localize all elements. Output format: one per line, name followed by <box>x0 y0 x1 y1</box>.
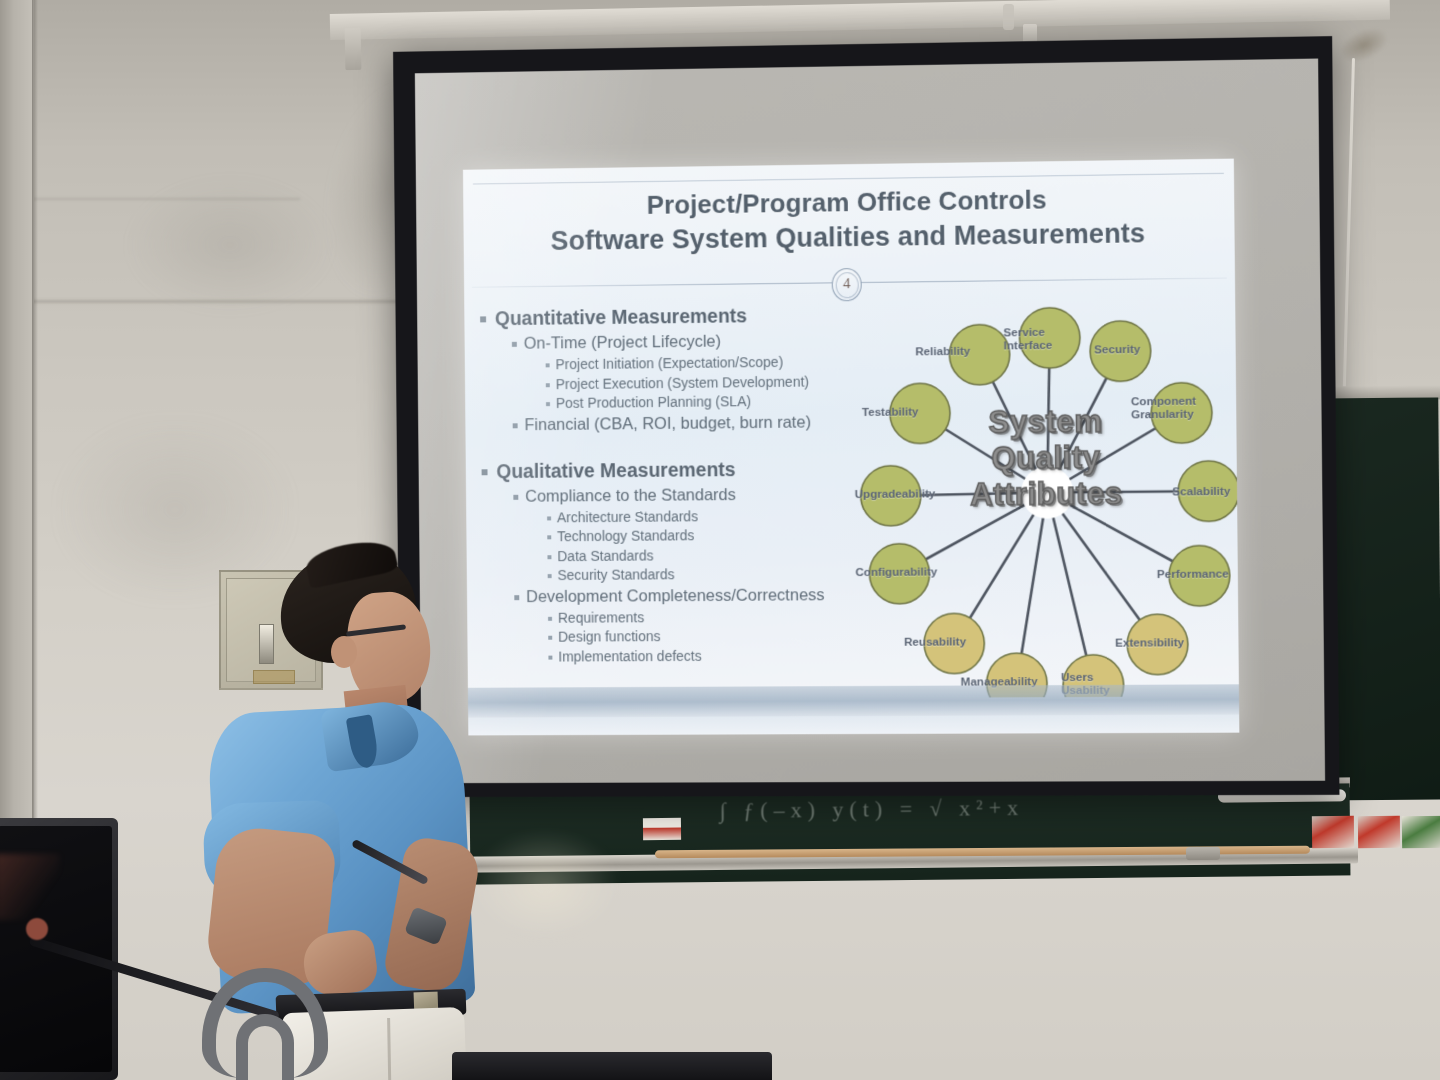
diagram-node-circle <box>869 544 930 604</box>
bullet-square-icon <box>546 402 550 406</box>
bullet-square-icon <box>547 535 551 539</box>
diagram-node-circle <box>1090 321 1151 382</box>
slide-bullet-list: Quantitative MeasurementsOn-Time (Projec… <box>480 302 880 667</box>
bullet-square-icon <box>546 363 550 367</box>
microphone-head[interactable] <box>26 918 48 940</box>
bullet-text: Financial (CBA, ROI, budget, burn rate) <box>524 411 811 437</box>
slide-title: Project/Program Office Controls Software… <box>463 181 1235 260</box>
bullet-text: Post Production Planning (SLA) <box>556 392 751 413</box>
diagram-node-circle <box>1019 307 1080 368</box>
monitor-reflection <box>0 854 60 920</box>
bullet-text: Qualitative Measurements <box>496 457 735 486</box>
bullet-text: Requirements <box>558 608 644 628</box>
bullet-item-l3: Architecture Standards <box>547 505 879 527</box>
projector-screen-surface: Project/Program Office Controls Software… <box>415 59 1325 784</box>
projector-screen-frame: Project/Program Office Controls Software… <box>393 36 1339 797</box>
bullet-square-icon <box>480 316 486 322</box>
bullet-text: On-Time (Project Lifecycle) <box>524 331 721 356</box>
presentation-slide: Project/Program Office Controls Software… <box>463 159 1239 736</box>
diagram-node-circle <box>924 613 985 673</box>
bullet-text: Development Completeness/Correctness <box>526 584 825 609</box>
diagram-hub <box>1021 466 1074 519</box>
bullet-item-l3: Implementation defects <box>548 645 880 666</box>
chalk-box[interactable] <box>1358 816 1400 848</box>
bullet-square-icon <box>548 636 552 640</box>
diagram-node-circle <box>949 324 1010 385</box>
system-quality-attributes-diagram: SystemQualityAttributes Service Interfac… <box>853 294 1240 699</box>
bullet-item-l1: Qualitative Measurements <box>481 455 878 485</box>
rod-mount-bracket <box>1186 847 1220 860</box>
bullet-item-l2: Financial (CBA, ROI, budget, burn rate) <box>513 410 879 436</box>
diagram-node-circle <box>1178 461 1239 522</box>
diagram-node-circle <box>1169 545 1230 606</box>
bullet-text: Security Standards <box>557 565 674 585</box>
bullet-item-l3: Data Standards <box>547 544 879 566</box>
wall-seam <box>0 198 300 200</box>
bullet-square-icon <box>513 494 518 499</box>
classroom-scene: ∫ ƒ(–x) y(t) = √ x²+x Project/Program Of… <box>0 0 1440 1080</box>
bullet-square-icon <box>482 469 488 475</box>
slide-number-badge: 4 <box>832 268 862 301</box>
diagram-node-circle <box>1127 614 1188 675</box>
chalk-box[interactable] <box>1402 816 1440 848</box>
rail-hook <box>1003 4 1014 30</box>
bullet-square-icon <box>513 423 518 428</box>
badge-ring <box>835 272 858 298</box>
classroom-chair[interactable] <box>196 968 386 1080</box>
slide-footer-base <box>468 715 1239 736</box>
blackboard-eraser[interactable] <box>643 818 681 840</box>
bullet-text: Data Standards <box>557 546 653 566</box>
bullet-square-icon <box>548 574 552 578</box>
bullet-text: Technology Standards <box>557 526 694 546</box>
bullet-item-l3: Design functions <box>548 626 880 647</box>
bullet-item-l2: Compliance to the Standards <box>513 482 879 508</box>
bullet-text: Implementation defects <box>558 646 702 666</box>
bullet-square-icon <box>512 342 517 347</box>
bullet-item-l3: Technology Standards <box>547 525 879 547</box>
bullet-square-icon <box>546 383 550 387</box>
bullet-item-l2: Development Completeness/Correctness <box>514 583 880 608</box>
bullet-square-icon <box>547 555 551 559</box>
diagram-svg <box>853 294 1240 699</box>
bullet-square-icon <box>548 616 552 620</box>
bullet-square-icon <box>547 516 551 520</box>
bullet-item-l3: Requirements <box>548 606 880 627</box>
bullet-item-l3: Security Standards <box>548 564 880 586</box>
bullet-text: Compliance to the Standards <box>525 484 736 509</box>
bullet-text: Quantitative Measurements <box>495 303 747 333</box>
rail-bracket <box>345 28 362 70</box>
chalk-box[interactable] <box>1312 816 1354 848</box>
bullet-square-icon <box>548 655 552 659</box>
bullet-text: Project Initiation (Expectation/Scope) <box>555 353 783 375</box>
diagram-node-circle <box>1151 382 1212 443</box>
diagram-node-circle <box>890 383 951 444</box>
bullet-text: Project Execution (System Development) <box>556 372 809 394</box>
front-desk-edge <box>452 1052 772 1080</box>
bullet-text: Architecture Standards <box>557 507 698 528</box>
slide-footer-band <box>468 684 1239 717</box>
presenter-ear <box>331 636 357 668</box>
bullet-text: Design functions <box>558 627 661 647</box>
diagram-node-circle <box>860 465 921 526</box>
wall-seam <box>0 300 420 303</box>
chair-backrest-inner <box>236 1014 294 1080</box>
